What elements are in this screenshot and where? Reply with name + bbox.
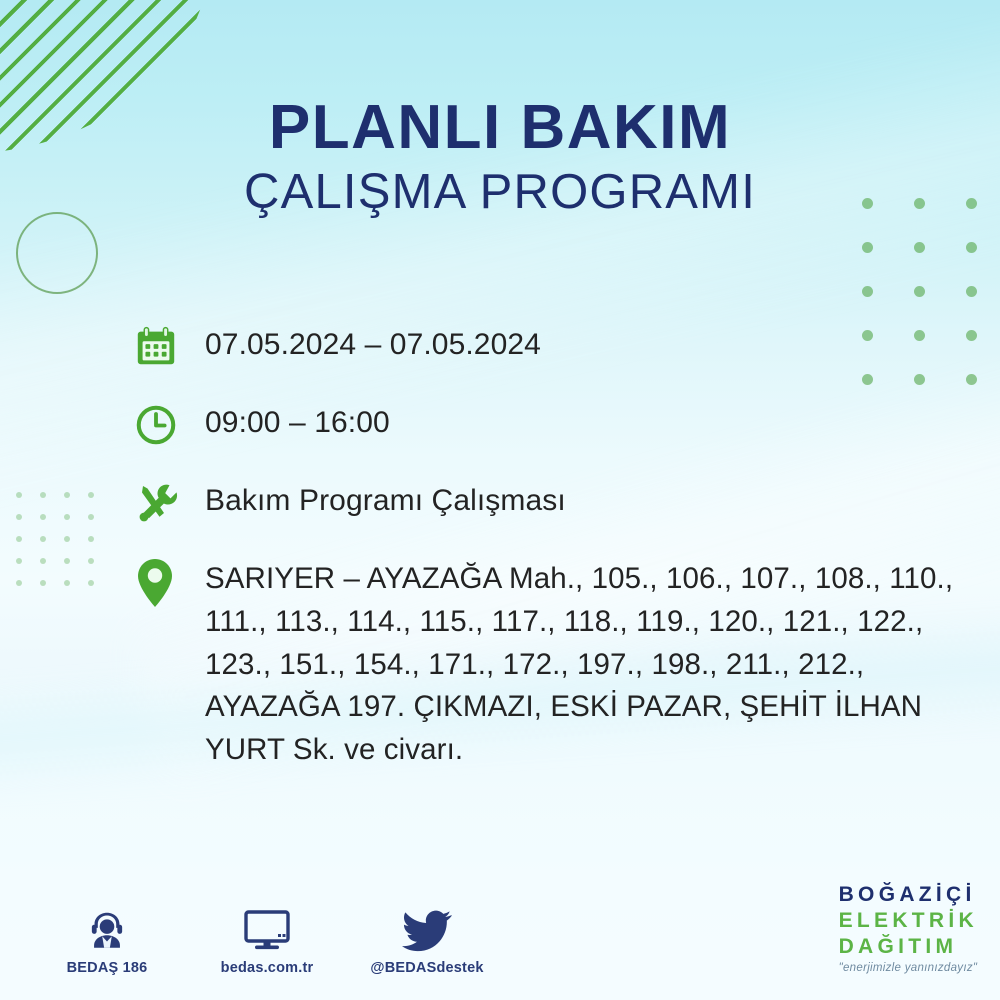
clock-icon — [133, 396, 205, 452]
dot-grid-left-decoration — [16, 492, 112, 602]
contact-twitter[interactable]: @BEDASdestek — [368, 901, 486, 976]
circle-outline-decoration — [16, 212, 98, 294]
calendar-icon — [133, 318, 205, 374]
work-type-text: Bakım Programı Çalışması — [205, 474, 963, 523]
poster-header: PLANLI BAKIM ÇALIŞMA PROGRAMI — [0, 96, 1000, 220]
time-range-text: 09:00 – 16:00 — [205, 396, 963, 445]
contact-twitter-label: @BEDASdestek — [368, 960, 486, 976]
date-range-text: 07.05.2024 – 07.05.2024 — [205, 318, 963, 367]
contact-channels: BEDAŞ 186 bedas.com.tr — [48, 901, 486, 976]
info-row-date: 07.05.2024 – 07.05.2024 — [133, 318, 963, 374]
monitor-icon — [208, 901, 326, 953]
bedas-logo: BOĞAZİÇİ ELEKTRİK DAĞITIM "enerjimizle y… — [839, 884, 978, 975]
info-list: 07.05.2024 – 07.05.2024 09:00 – 16:00 — [133, 318, 963, 772]
tools-icon — [133, 474, 205, 530]
planli-bakim-poster: PLANLI BAKIM ÇALIŞMA PROGRAMI — [0, 0, 1000, 1000]
location-pin-icon — [133, 552, 205, 610]
info-row-time: 09:00 – 16:00 — [133, 396, 963, 452]
twitter-bird-icon — [368, 901, 486, 953]
poster-footer: BEDAŞ 186 bedas.com.tr — [0, 874, 1000, 982]
affected-area-text: SARIYER – AYAZAĞA Mah., 105., 106., 107.… — [205, 552, 963, 772]
info-row-location: SARIYER – AYAZAĞA Mah., 105., 106., 107.… — [133, 552, 963, 772]
contact-website[interactable]: bedas.com.tr — [208, 901, 326, 976]
contact-website-label: bedas.com.tr — [208, 960, 326, 976]
contact-phone[interactable]: BEDAŞ 186 — [48, 901, 166, 976]
contact-phone-label: BEDAŞ 186 — [48, 960, 166, 976]
brand-line-elektrik: ELEKTRİK — [839, 910, 978, 931]
brand-tagline: "enerjimizle yanınızdayız" — [839, 963, 978, 975]
page-subtitle: ÇALIŞMA PROGRAMI — [0, 165, 1000, 220]
info-row-work-type: Bakım Programı Çalışması — [133, 474, 963, 530]
brand-line-bogazici: BOĞAZİÇİ — [839, 884, 978, 905]
call-center-agent-icon — [48, 901, 166, 953]
page-title: PLANLI BAKIM — [0, 96, 1000, 159]
brand-line-dagitim: DAĞITIM — [839, 936, 978, 957]
